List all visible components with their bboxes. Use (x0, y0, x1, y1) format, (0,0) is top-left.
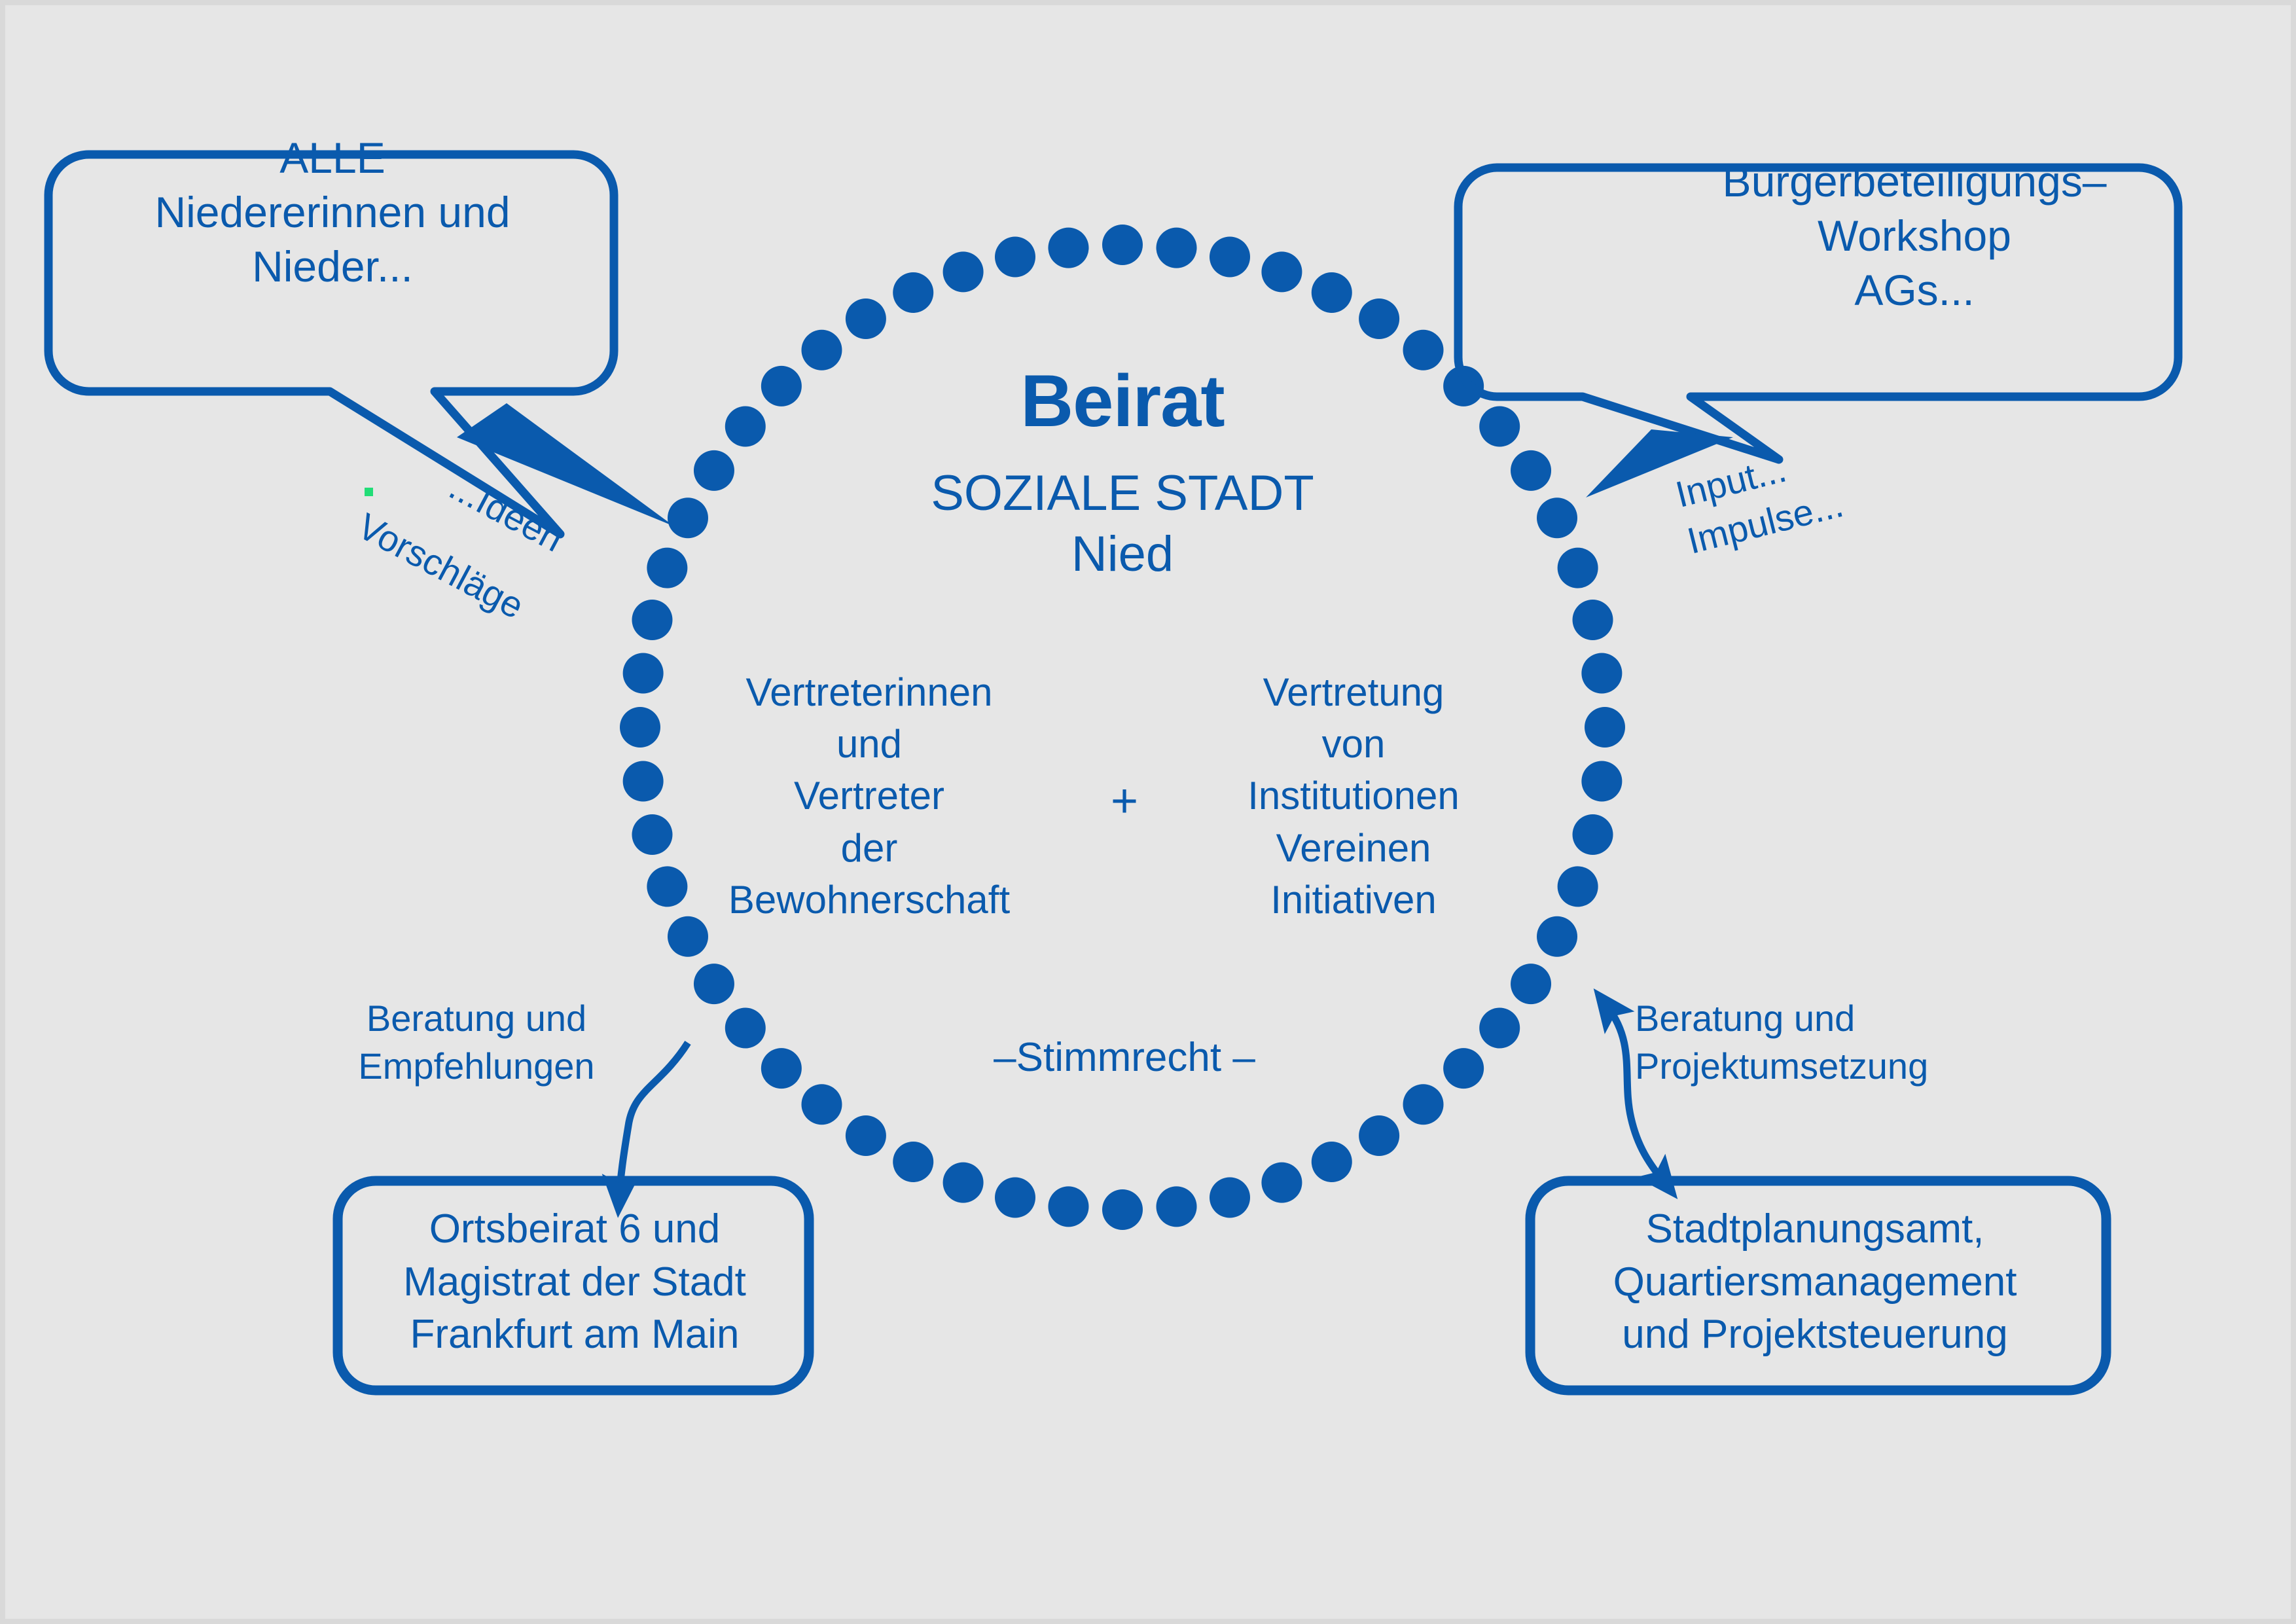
ring-dot (1261, 251, 1302, 292)
ring-dot (761, 1048, 802, 1089)
ring-dot (1537, 497, 1577, 538)
diagram-canvas: ALLE Niedererinnen und Nieder... Bürgerb… (0, 0, 2296, 1624)
ring-dot (1581, 653, 1622, 693)
ring-dot (1102, 1189, 1143, 1230)
ring-dot (1157, 1186, 1197, 1227)
ring-dot (1261, 1163, 1302, 1203)
ring-dot (1359, 298, 1399, 339)
ring-dot (694, 964, 734, 1004)
ring-dot (623, 761, 664, 802)
ring-dot (1581, 761, 1622, 802)
ring-dot (943, 251, 984, 292)
ring-dot (1573, 600, 1613, 640)
ring-dot (1403, 1084, 1444, 1125)
ring-dot (995, 236, 1035, 277)
ring-dot (725, 406, 766, 446)
ring-dot (1479, 1008, 1520, 1049)
ring-dot (846, 1115, 886, 1156)
ring-dot (1573, 814, 1613, 855)
ring-dot (1558, 548, 1598, 588)
center-column-right: Vertretung von Institutionen Vereinen In… (1203, 666, 1504, 926)
box-right-label: Stadtplanungsamt, Quartiersmanagement un… (1530, 1203, 2100, 1362)
ring-dot (1359, 1115, 1399, 1156)
box-left-label: Ortsbeirat 6 und Magistrat der Stadt Fra… (346, 1203, 804, 1362)
bubble-right-label: Bürgerbeteiligungs– Workshop AGs... (1682, 154, 2147, 317)
green-marker-dot (365, 488, 373, 496)
ring-dot (1157, 228, 1197, 268)
ring-dot (725, 1008, 766, 1049)
arrow-right-label: Beratung und Projektumsetzung (1635, 995, 1975, 1091)
ring-dot (623, 653, 664, 693)
ring-dot (1048, 1186, 1088, 1227)
ring-dot (694, 450, 734, 491)
ring-dot (647, 866, 687, 907)
ring-dot (1048, 228, 1088, 268)
center-column-left: Vertreterinnen und Vertreter der Bewohne… (699, 666, 1039, 926)
ring-dot (893, 1142, 933, 1182)
ring-dot (1585, 707, 1625, 748)
ring-dot (1558, 866, 1598, 907)
ring-dot (943, 1163, 984, 1203)
ring-dot (620, 707, 660, 748)
ring-dot (1537, 916, 1577, 957)
ring-dot (995, 1178, 1035, 1218)
ring-dot (668, 497, 708, 538)
ring-dot (1102, 225, 1143, 265)
ring-dot (846, 298, 886, 339)
ring-dot (1210, 236, 1250, 277)
ring-dot (893, 272, 933, 313)
ring-dot (632, 600, 672, 640)
arrow-left-shape (619, 1043, 688, 1198)
ring-dot (1443, 1048, 1484, 1089)
stimmrecht-note: –Stimmrecht – (941, 1034, 1308, 1081)
ring-dot (647, 548, 687, 588)
page-subtitle: SOZIALE STADT Nied (782, 463, 1463, 585)
ring-dot (1479, 406, 1520, 446)
ring-dot (632, 814, 672, 855)
ring-dot (1511, 450, 1551, 491)
plus-icon: + (1079, 774, 1170, 829)
ring-dot (1210, 1178, 1250, 1218)
ring-dot (1511, 964, 1551, 1004)
ring-dot (1312, 1142, 1352, 1182)
ring-dot (1312, 272, 1352, 313)
bubble-left-label: ALLE Niedererinnen und Nieder... (103, 131, 562, 294)
ring-dot (801, 1084, 842, 1125)
arrow-left-label: Beratung und Empfehlungen (332, 995, 620, 1091)
page-title: Beirat (782, 359, 1463, 444)
